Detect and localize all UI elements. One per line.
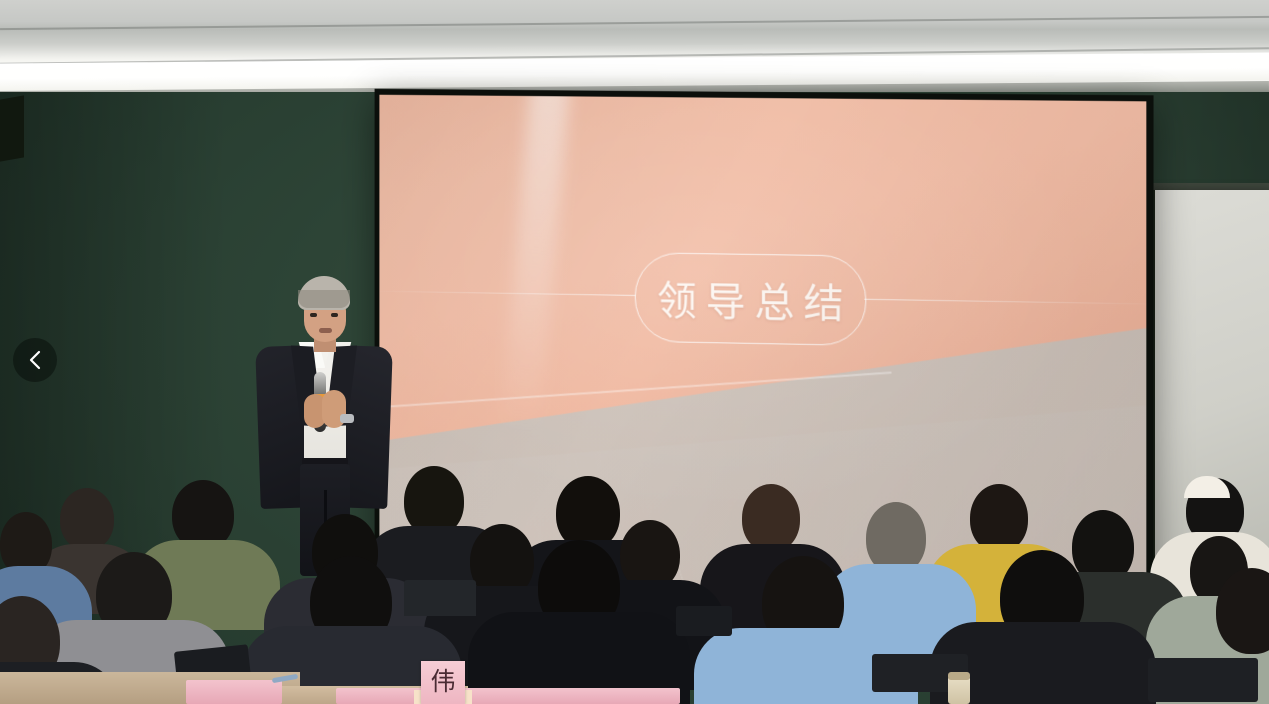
speaker-hair-shadow (298, 290, 350, 308)
tablet-device (676, 606, 732, 636)
name-placard: 伟 (421, 661, 465, 704)
wall-corner-unit (0, 95, 24, 162)
audience (0, 440, 1269, 704)
speaker-eye (310, 313, 317, 317)
chair-back (1148, 658, 1258, 702)
chevron-left-icon (27, 349, 43, 371)
audience-head (60, 488, 114, 550)
water-bottle (948, 676, 970, 704)
speaker-mouth (319, 328, 332, 333)
speaker-wristwatch (340, 414, 354, 423)
audience-head (970, 484, 1028, 552)
speaker-eye (331, 313, 338, 317)
water-bottle-cap (948, 672, 970, 680)
photo-viewer: 领导总结 (0, 0, 1269, 704)
audience-head (742, 484, 800, 552)
laptop (404, 580, 476, 616)
ceiling-seam (0, 16, 1269, 30)
audience-head (556, 476, 620, 550)
pink-document (186, 680, 282, 704)
carousel-prev-button[interactable] (13, 338, 57, 382)
placard-text: 伟 (430, 670, 455, 695)
pink-document (470, 688, 680, 704)
